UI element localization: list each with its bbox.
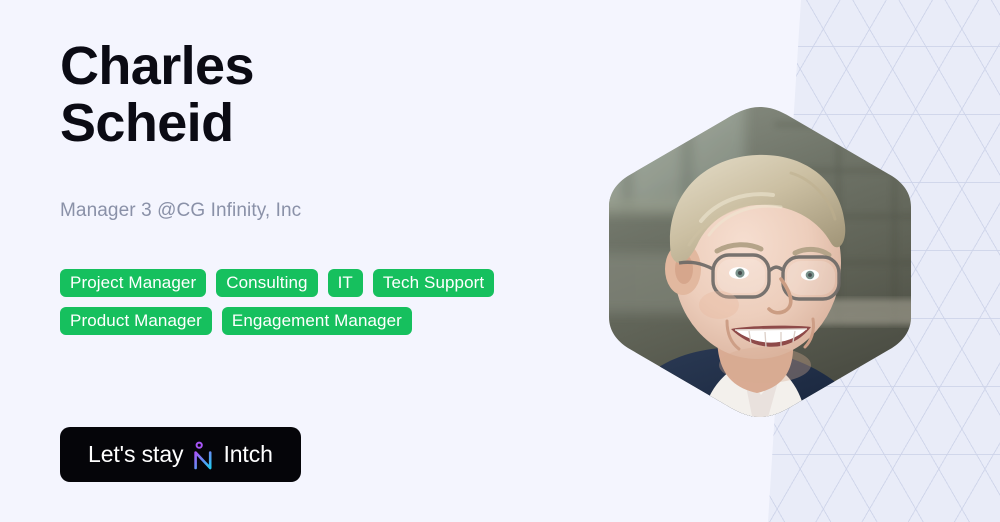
cta-label-prefix: Let's stay xyxy=(88,441,183,468)
skill-tag[interactable]: Project Manager xyxy=(60,269,206,297)
skill-tag[interactable]: Tech Support xyxy=(373,269,494,297)
cta-label-suffix: Intch xyxy=(223,441,272,468)
skill-tag[interactable]: Product Manager xyxy=(60,307,212,335)
person-headline: Manager 3 @CG Infinity, Inc xyxy=(60,198,301,224)
person-name-line-2: Scheid xyxy=(60,93,233,153)
skill-tag[interactable]: IT xyxy=(328,269,363,297)
skill-tag[interactable]: Engagement Manager xyxy=(222,307,412,335)
intch-logo-icon xyxy=(191,441,215,471)
lets-stay-intch-button[interactable]: Let's stay Intch xyxy=(60,427,301,482)
profile-card: Smiling man with short blond hair and gl… xyxy=(0,0,1000,522)
profile-details: Charles Scheid Manager 3 @CG Infinity, I… xyxy=(0,0,620,522)
skill-tag-list: Project Manager Consulting IT Tech Suppo… xyxy=(60,269,540,335)
skill-tag[interactable]: Consulting xyxy=(216,269,317,297)
page-title: Charles Scheid xyxy=(60,38,580,152)
avatar: Smiling man with short blond hair and gl… xyxy=(605,103,915,421)
person-name-line-1: Charles xyxy=(60,36,254,96)
